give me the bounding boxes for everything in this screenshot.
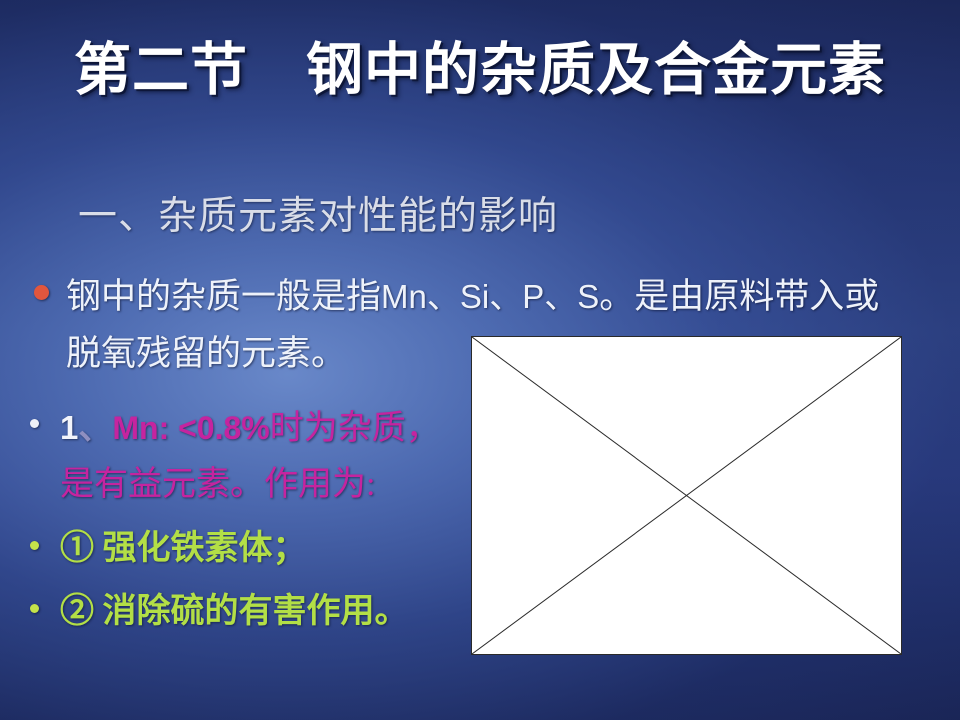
mn-threshold-value: Mn: <0.8% bbox=[112, 410, 269, 446]
slide-canvas: 第二节 钢中的杂质及合金元素 一、杂质元素对性能的影响 钢中的杂质一般是指Mn、… bbox=[0, 0, 960, 720]
bullet-item-ferrite: ① 强化铁素体； bbox=[30, 522, 460, 576]
ideographic-comma: 、 bbox=[78, 410, 112, 447]
placeholder-cross-icon bbox=[472, 337, 901, 654]
round-bullet-icon bbox=[30, 604, 39, 613]
round-bullet-icon bbox=[30, 541, 39, 550]
bullet-text-mn: 1、Mn: <0.8%时为杂质，是有益元素。作用为: bbox=[60, 400, 460, 513]
item-number: 1 bbox=[60, 409, 78, 446]
round-bullet-icon bbox=[34, 285, 49, 300]
slide-title: 第二节 钢中的杂质及合金元素 bbox=[0, 40, 960, 103]
bullet-text-sulfur: ② 消除硫的有害作用。 bbox=[60, 585, 409, 639]
bullet-item-mn: 1、Mn: <0.8%时为杂质，是有益元素。作用为: bbox=[30, 400, 460, 513]
missing-image-placeholder bbox=[471, 336, 902, 655]
section-subheading: 一、杂质元素对性能的影响 bbox=[78, 185, 558, 241]
round-bullet-icon bbox=[30, 419, 39, 428]
element-symbols: Mn、Si、P、S bbox=[381, 278, 599, 315]
bullet-item-sulfur: ② 消除硫的有害作用。 bbox=[30, 585, 460, 639]
bullet-text-ferrite: ① 强化铁素体； bbox=[60, 522, 307, 576]
